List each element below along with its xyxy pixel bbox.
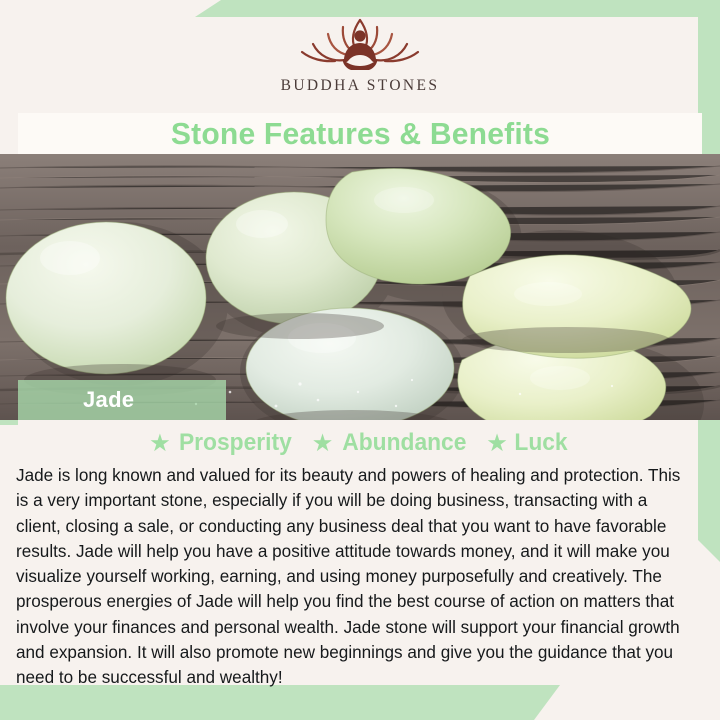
keyword-label: Abundance [342,429,466,457]
brand-header: BUDDHA STONES [0,0,720,113]
keyword-abundance: ★ Abundance [313,429,488,457]
stone-description: Jade is long known and valued for its be… [16,463,694,691]
keyword-prosperity: ★ Prosperity [151,429,314,457]
stone-photo: Jade [0,154,720,420]
keyword-list: ★ Prosperity ★ Abundance ★ Luck [0,429,720,457]
keyword-label: Luck [515,429,568,457]
stone-name: Jade [83,387,134,413]
title-banner: Stone Features & Benefits [18,113,702,154]
star-icon: ★ [313,431,332,456]
star-icon: ★ [151,431,170,456]
page-title: Stone Features & Benefits [170,116,549,152]
keyword-luck: ★ Luck [488,429,570,457]
keyword-label: Prosperity [179,429,292,457]
brand-name: BUDDHA STONES [281,77,440,95]
star-icon: ★ [488,431,507,456]
lotus-meditation-icon [285,14,435,76]
stone-label-bar: Jade [18,380,226,420]
